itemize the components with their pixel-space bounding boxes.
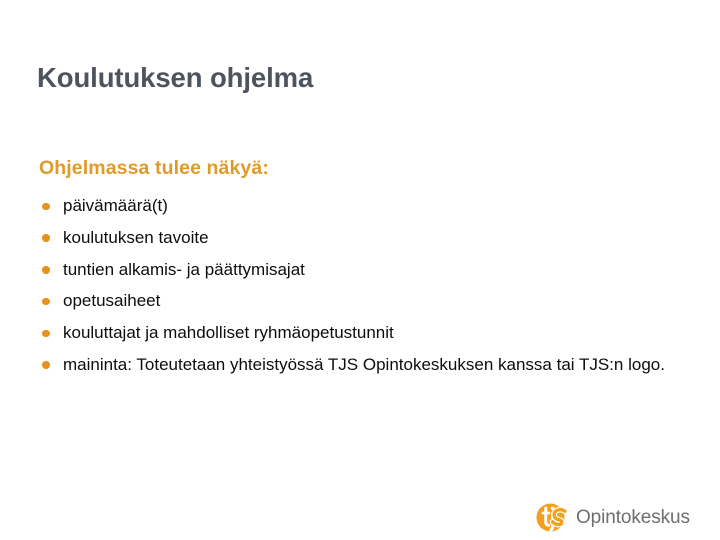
bullet-dot-icon — [42, 298, 50, 306]
bullet-dot-icon — [42, 330, 50, 338]
list-item-label: päivämäärä(t) — [63, 196, 685, 217]
list-item-label: koulutuksen tavoite — [63, 228, 685, 249]
tjs-circle-logo-icon — [534, 501, 570, 534]
list-item: koulutuksen tavoite — [40, 228, 685, 249]
list-item: tuntien alkamis- ja päättymisajat — [40, 260, 685, 281]
list-item: opetusaiheet — [40, 291, 685, 312]
logo-wordmark-label: Opintokeskus — [576, 508, 690, 527]
bullet-dot-icon — [42, 361, 50, 369]
list-item: päivämäärä(t) — [40, 196, 685, 217]
tjs-opintokeskus-logo: Opintokeskus — [534, 500, 690, 534]
list-item-label: tuntien alkamis- ja päättymisajat — [63, 260, 685, 281]
bullet-list: päivämäärä(t) koulutuksen tavoite tuntie… — [40, 196, 685, 387]
bullet-dot-icon — [42, 266, 50, 274]
bullet-dot-icon — [42, 234, 50, 242]
bullet-dot-icon — [42, 203, 50, 211]
page-title: Koulutuksen ohjelma — [37, 62, 677, 94]
subtitle-heading: Ohjelmassa tulee näkyä: — [39, 157, 269, 180]
list-item-label: kouluttajat ja mahdolliset ryhmäopetustu… — [63, 323, 685, 344]
list-item-label: opetusaiheet — [63, 291, 685, 312]
list-item: kouluttajat ja mahdolliset ryhmäopetustu… — [40, 323, 685, 344]
list-item: maininta: Toteutetaan yhteistyössä TJS O… — [40, 355, 685, 376]
list-item-label: maininta: Toteutetaan yhteistyössä TJS O… — [63, 355, 685, 376]
slide-canvas: Koulutuksen ohjelma Ohjelmassa tulee näk… — [0, 0, 720, 540]
